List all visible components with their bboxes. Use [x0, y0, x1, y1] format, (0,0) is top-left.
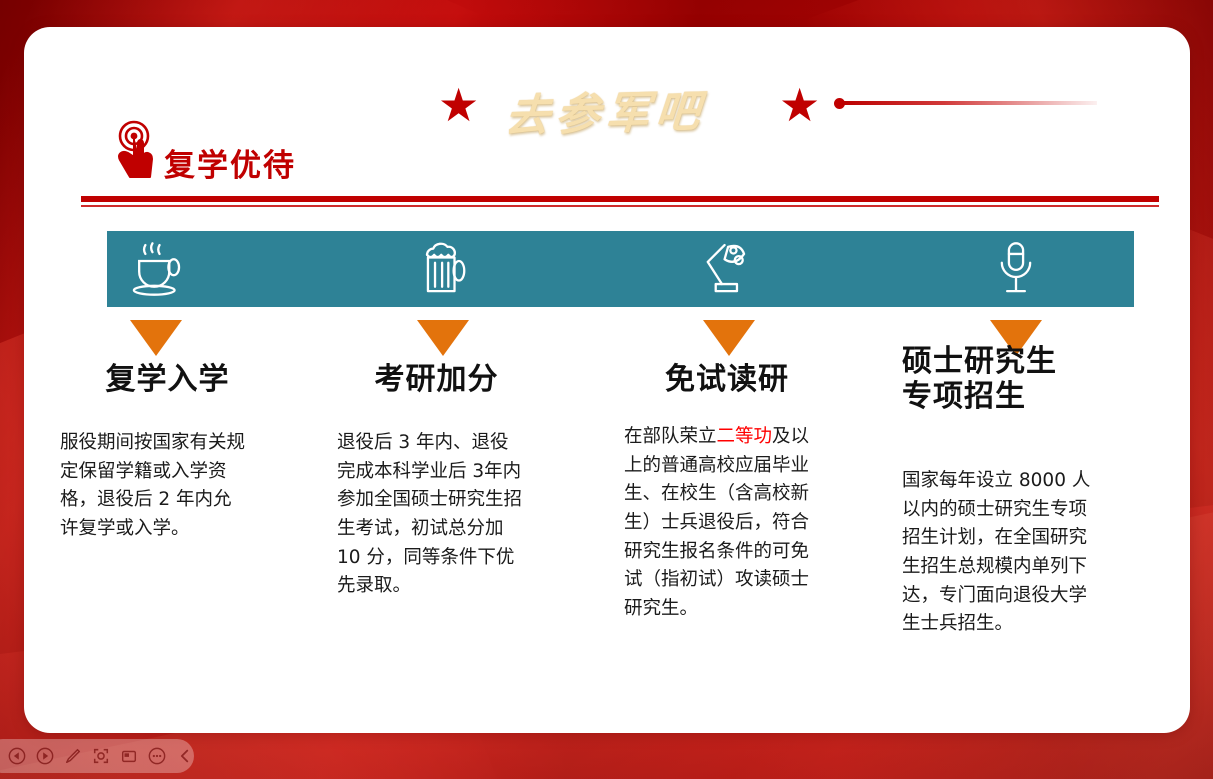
arrow-down-3 — [703, 320, 755, 356]
calligraphy-slogan: 去参军吧 — [503, 74, 758, 143]
next-slide-button[interactable] — [36, 746, 55, 766]
column-heading-2: 考研加分 — [334, 363, 539, 398]
pen-tool-button[interactable] — [64, 746, 83, 766]
body-text: 服役期间按国家有关规定保留学籍或入学资格，退役后 2 年内允许复学或入学。 — [60, 432, 245, 539]
divider-thick — [81, 196, 1159, 202]
desk-lamp-icon — [691, 231, 767, 307]
highlighted-text: 二等功 — [717, 426, 773, 447]
body-text: 退役后 3 年内、退役完成本科学业后 3年内参加全国硕士研究生招生考试，初试总分… — [337, 432, 522, 596]
hand-tap-icon — [112, 119, 156, 181]
star-left-icon: ★ — [438, 82, 479, 128]
arrow-down-1 — [130, 320, 182, 356]
column-body-2: 退役后 3 年内、退役完成本科学业后 3年内参加全国硕士研究生招生考试，初试总分… — [337, 429, 527, 601]
page-title: 复学优待 — [164, 140, 296, 185]
presentation-toolbar[interactable] — [0, 739, 194, 773]
more-options-button[interactable] — [147, 746, 166, 766]
slide-card: 复学优待 ★ 去参军吧 ★ — [24, 27, 1190, 733]
star-right-icon: ★ — [779, 82, 820, 128]
display-settings-button[interactable] — [119, 746, 138, 766]
beer-mug-icon — [405, 231, 481, 307]
coffee-cup-icon — [118, 231, 194, 307]
column-heading-3: 免试读研 — [622, 363, 832, 398]
zoom-button[interactable] — [92, 746, 111, 766]
column-heading-1: 复学入学 — [60, 363, 275, 398]
decorative-gradient-line — [842, 101, 1097, 105]
collapse-toolbar-button[interactable] — [175, 746, 194, 766]
previous-slide-button[interactable] — [8, 746, 27, 766]
column-body-1: 服役期间按国家有关规定保留学籍或入学资格，退役后 2 年内允许复学或入学。 — [60, 429, 250, 544]
arrow-down-2 — [417, 320, 469, 356]
body-text: 国家每年设立 8000 人以内的硕士研究生专项招生计划，在全国研究生招生总规模内… — [902, 470, 1090, 634]
column-body-4: 国家每年设立 8000 人以内的硕士研究生专项招生计划，在全国研究生招生总规模内… — [902, 467, 1100, 639]
column-body-3: 在部队荣立二等功及以上的普通高校应届毕业生、在校生（含高校新生）士兵退役后，符合… — [624, 423, 824, 624]
body-text: 在部队荣立 — [624, 426, 717, 447]
divider-thin — [81, 205, 1159, 207]
microphone-icon — [978, 231, 1054, 307]
column-heading-4: 硕士研究生 专项招生 — [902, 345, 1132, 415]
body-text: 及以上的普通高校应届毕业生、在校生（含高校新生）士兵退役后，符合研究生报名条件的… — [624, 426, 809, 619]
